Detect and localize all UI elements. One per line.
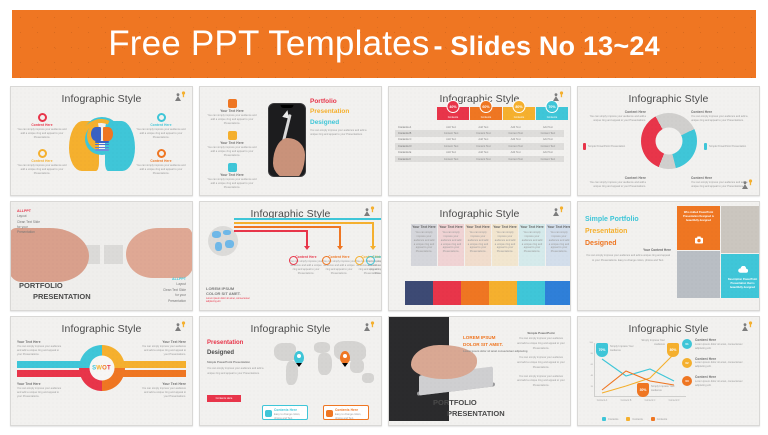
card-sub: Easy to change colors, photos and Text. (274, 413, 305, 421)
cell: Add Text (532, 138, 564, 141)
slide-thumb-6[interactable]: Infographic Style (199, 201, 382, 311)
simple-portfolio-heading: Simple Portfolio Presentation Designed (585, 214, 639, 250)
heading-line-3: Designed (310, 118, 372, 128)
puzzle-column-1[interactable]: Your Text Here You can simply impress yo… (411, 224, 437, 266)
map-card-2[interactable]: Contents Here Easy to change colors, pho… (323, 405, 369, 420)
card-icon-orange (326, 410, 333, 417)
piece-label: Your Text Here (519, 224, 545, 230)
photo-blocks-hand (721, 206, 760, 253)
slide-title: Infographic Style (578, 93, 759, 105)
content-item-2[interactable]: Content Here You can simply impress your… (136, 113, 186, 140)
quadrant-body: You can simply impress your audience and… (140, 387, 186, 399)
body-heading: Your Content Here (585, 248, 671, 252)
piece-body: You can simply impress your audience and… (465, 230, 491, 255)
row-label: Contents A (395, 126, 435, 129)
side-body: Lorem ipsum dolor sit amet, consectetuer… (695, 380, 754, 388)
legend-label: Contents (632, 418, 642, 421)
text-item-body: You can simply impress your audience and… (206, 178, 258, 190)
quadrant-body: You can simply impress your audience and… (17, 387, 63, 399)
content-item-body: You can simply impress your audience and… (17, 164, 67, 176)
left-note: ALLPPT Layout Clean Text Slide for your … (17, 208, 40, 236)
allppt-logo-icon (173, 91, 187, 103)
puzzle-piece-2[interactable] (433, 281, 461, 305)
right-body-3: You can simply impress your audience and… (517, 371, 565, 390)
allppt-logo-icon (551, 91, 565, 103)
cell: Content Text (532, 132, 564, 135)
slide-thumb-3[interactable]: Infographic Style 40% Contents 60% Conte… (388, 86, 571, 196)
legend-item-2[interactable]: Contents (626, 417, 642, 421)
slide-thumb-7[interactable]: Infographic Style Your Text Here You can… (388, 201, 571, 311)
table-header-4[interactable]: 70% Contents (536, 107, 568, 120)
piece-label: Your Text Here (438, 224, 464, 230)
slide-thumb-4[interactable]: Infographic Style Content Here You can s… (577, 86, 760, 196)
cell: Content Text (500, 145, 532, 148)
slide-thumb-5[interactable]: ALLPPT Layout Clean Text Slide for your … (10, 201, 193, 311)
cell: Content Text (435, 158, 467, 161)
x-tick-1: Content A (597, 397, 608, 402)
card-icon-cyan (265, 410, 272, 417)
body-block: Your Content Here You can simply impress… (585, 248, 671, 263)
heading-line-1: Portfolio (310, 97, 372, 107)
map-pin-cyan[interactable] (294, 351, 304, 364)
side-item-1[interactable]: 01 Content Here Lorem ipsum dolor sit am… (682, 339, 754, 351)
slide-thumb-1[interactable]: Infographic Style Content Here You can s… (10, 86, 193, 196)
hand-left-photo (10, 228, 89, 282)
x-tick-4: Content D (669, 397, 680, 402)
cloud-icon (737, 266, 748, 274)
text-item-3[interactable]: Your Text Here You can simply impress yo… (206, 163, 258, 190)
cell: Add Text (532, 126, 564, 129)
banner-text: Free PPT Templates- Slides No 13~24 (108, 24, 660, 64)
cell: Add Text (467, 151, 499, 154)
percent-badge: 80% (513, 100, 526, 113)
table-header-2[interactable]: 60% Contents (470, 107, 502, 120)
chart-badge-cyan[interactable]: 70% (596, 343, 608, 357)
orange-block-text: Who Added PowerPoint Presentation Design… (677, 206, 720, 223)
text-item-2[interactable]: Your Text Here You can simply impress yo… (206, 131, 258, 158)
content-item-body: You can simply impress your audience and… (136, 128, 186, 140)
right-note-l5: Presentation (163, 299, 186, 304)
table-row[interactable]: Contents F Content Text Content Text Con… (395, 156, 564, 162)
phone-mockup (268, 103, 306, 177)
chart-badge-note-3: Simply Impress Your Audience (651, 385, 677, 393)
piece-body: You can simply impress your audience and… (438, 230, 464, 255)
header-label: Contents (470, 116, 502, 119)
cell: Content Text (532, 145, 564, 148)
slide-thumb-2[interactable]: Portfolio Presentation Designed You can … (199, 86, 382, 196)
content-item-body: You can simply impress your audience and… (17, 128, 67, 140)
legend-label: Contents (608, 418, 618, 421)
cell: Add Text (467, 138, 499, 141)
donut-note-3[interactable]: Content Here You can simply impress your… (584, 177, 646, 189)
arrow-column-1[interactable]: Content Here You can simply impress your… (289, 256, 323, 275)
slide-thumb-11[interactable]: LOREM IPSUM DOLOR SIT AMET. Lorem ipsum … (388, 316, 571, 426)
content-item-3[interactable]: Content Here You can simply impress your… (17, 149, 67, 176)
swot-text-1[interactable]: Your Text Here You can simply impress yo… (17, 341, 63, 357)
side-badge: 02 (682, 358, 692, 368)
orange-block[interactable]: Who Added PowerPoint Presentation Design… (677, 206, 720, 250)
slide-title: Infographic Style (200, 323, 381, 335)
slide-thumb-9[interactable]: Infographic Style SWOT Your Text Here Yo (10, 316, 193, 426)
body-text: You can simply impress your audience and… (585, 254, 671, 263)
donut-side-left[interactable]: Simple PowerPoint Presentation (583, 143, 633, 150)
swot-text-3[interactable]: Your Text Here You can simply impress yo… (17, 383, 63, 399)
cell: Content Text (467, 132, 499, 135)
heading-line-2: Presentation (585, 226, 639, 238)
world-map (272, 339, 378, 391)
percent-badge: 60% (480, 100, 493, 113)
portfolio-title: PORTFOLIO PRESENTATION (19, 280, 91, 303)
legend-item-3[interactable]: Contents (651, 417, 667, 421)
text-item-body: You can simply impress your audience and… (206, 146, 258, 158)
contents-button[interactable]: Contents Here (207, 395, 241, 402)
heading-line-1: Simple Portfolio (585, 214, 639, 226)
heading-line-1: Presentation (207, 339, 269, 349)
puzzle-piece-5[interactable] (517, 281, 545, 305)
puzzle-piece-4[interactable] (489, 281, 517, 305)
chart-side-list: 01 Content Here Lorem ipsum dolor sit am… (682, 339, 754, 395)
donut-note-2[interactable]: Content Here You can simply impress your… (691, 111, 753, 123)
right-body: You can simply impress your audience and… (517, 337, 565, 352)
piece-body: You can simply impress your audience and… (519, 230, 545, 255)
cell: Add Text (467, 126, 499, 129)
piece-body: You can simply impress your audience and… (411, 230, 437, 255)
allppt-logo-icon (740, 321, 754, 333)
left-note-l5: Presentation (17, 230, 40, 235)
content-item-4[interactable]: Content Here You can simply impress your… (136, 149, 186, 176)
puzzle-column-3[interactable]: Your Text Here You can simply impress yo… (465, 224, 491, 266)
right-text-block: Simple PowerPoint You can simply impress… (517, 331, 565, 389)
piece-body: You can simply impress your audience and… (546, 230, 571, 255)
banner-subtitle: - Slides No 13~24 (434, 31, 660, 61)
table-header-3[interactable]: 80% Contents (503, 107, 535, 120)
allppt-logo-icon (362, 321, 376, 333)
donut-chart (641, 113, 697, 169)
right-heading: Simple PowerPoint (517, 331, 565, 335)
side-label: Simple PowerPoint Presentation (588, 145, 625, 149)
puzzle-piece-6[interactable] (545, 281, 571, 305)
portfolio-heading: Portfolio Presentation Designed (310, 97, 372, 128)
side-badge: 01 (682, 339, 692, 349)
chart-legend: Contents Contents Contents (602, 417, 667, 421)
banner-title: Free PPT Templates (108, 24, 429, 63)
title-line-1: PORTFOLIO (433, 397, 505, 408)
row-label: Contents F (395, 158, 435, 161)
cell: Add Text (532, 151, 564, 154)
cell: Content Text (532, 158, 564, 161)
heading-line-2: Presentation (310, 107, 372, 117)
piece-label: Your Text Here (465, 224, 491, 230)
slide-title: Infographic Style (389, 208, 570, 220)
x-tick-3: Content C (645, 397, 656, 402)
chart-badge-note-2: Simply Impress Your Audience (641, 339, 665, 347)
note-body: You can simply impress your audience and… (584, 181, 646, 189)
map-card-1[interactable]: Contents Here Easy to change colors, pho… (262, 405, 308, 420)
puzzle-piece-1[interactable] (405, 281, 433, 305)
swot-center-label: SWOT (89, 356, 114, 381)
heading-line-2: Designed (207, 349, 269, 359)
side-body: Lorem ipsum dolor sit amet, consectetuer… (695, 343, 754, 351)
allppt-logo-icon (362, 206, 376, 218)
slide-thumb-12[interactable]: Infographic Style 100 80 60 40 20 (577, 316, 760, 426)
head-brain-graphic (67, 117, 137, 173)
note-body: You can simply impress your audience and… (691, 115, 753, 123)
donut-note-1[interactable]: Content Here You can simply impress your… (584, 111, 646, 123)
cell: Add Text (435, 126, 467, 129)
side-body: Lorem ipsum dolor sit amet, consectetuer… (695, 361, 754, 369)
note-body: You can simply impress your audience and… (584, 115, 646, 123)
cell: Content Text (467, 145, 499, 148)
quadrant-body: You can simply impress your audience and… (17, 345, 63, 357)
button-label: Contents Here (207, 395, 241, 402)
allppt-logo-icon (740, 179, 754, 191)
table-column-headers: 40% Contents 60% Contents 80% Contents 7… (437, 107, 568, 120)
header-label: Contents (437, 116, 469, 119)
card-sub: Easy to change colors, photos and Text. (335, 413, 366, 421)
puzzle-column-4[interactable]: Your Text Here You can simply impress yo… (492, 224, 518, 266)
cell: Add Text (500, 138, 532, 141)
swot-ring: SWOT (79, 345, 125, 391)
header-banner: Free PPT Templates- Slides No 13~24 (12, 10, 756, 78)
slide-title: Infographic Style (11, 93, 192, 105)
piece-body: You can simply impress your audience and… (492, 230, 518, 255)
swot-text-2[interactable]: Your Text Here You can simply impress yo… (140, 341, 186, 357)
quadrant-body: You can simply impress your audience and… (140, 345, 186, 357)
portfolio-body: You can simply impress your audience and… (310, 129, 372, 138)
title-line-1: PORTFOLIO (19, 280, 91, 291)
piece-label: Your Text Here (546, 224, 571, 230)
cell: Content Text (435, 132, 467, 135)
cell: Content Text (500, 132, 532, 135)
percent-badge: 40% (447, 100, 460, 113)
puzzle-column-2[interactable]: Your Text Here You can simply impress yo… (438, 224, 464, 266)
content-item-1[interactable]: Content Here You can simply impress your… (17, 113, 67, 140)
caption-sub: Lorem ipsum dolor sit amet, consectetuer… (206, 297, 254, 304)
arrow-column-2[interactable]: Content Here You can simply impress your… (322, 256, 356, 275)
map-pin-orange[interactable] (340, 351, 350, 364)
piece-label: Your Text Here (411, 224, 437, 230)
text-item-body: You can simply impress your audience and… (206, 114, 258, 126)
cell: Content Text (467, 158, 499, 161)
swot-text-4[interactable]: Your Text Here You can simply impress yo… (140, 383, 186, 399)
arrow-column-4[interactable]: Content Here You can simply impress your… (366, 256, 382, 275)
right-note: ALLPPT Layout Clean Text Slide for your … (163, 276, 186, 304)
photo-blocks-tools (677, 251, 720, 298)
x-tick-2: Content B (621, 397, 632, 402)
page-root: Free PPT Templates- Slides No 13~24 Info… (0, 0, 768, 435)
text-item-1[interactable]: Your Text Here You can simply impress yo… (206, 99, 258, 126)
slide-thumbnail-grid: Infographic Style Content Here You can s… (10, 86, 760, 426)
cell: Add Text (435, 151, 467, 154)
slide-title: Infographic Style (11, 323, 192, 335)
side-label: Simple PowerPoint Presentation (709, 145, 746, 149)
row-label: Contents D (395, 145, 435, 148)
header-label: Contents (536, 116, 568, 119)
hand-right-photo (126, 228, 193, 278)
cell: Add Text (500, 151, 532, 154)
chart-badge-note-1: Simply Impress Your Audience (610, 345, 634, 353)
allppt-logo-icon (551, 206, 565, 218)
donut-side-right[interactable]: Simple PowerPoint Presentation (704, 143, 754, 150)
cell: Add Text (500, 126, 532, 129)
portfolio-title: PORTFOLIO PRESENTATION (433, 397, 505, 420)
slide-thumb-8[interactable]: Who Added PowerPoint Presentation Design… (577, 201, 760, 311)
row-label: Contents E (395, 151, 435, 154)
cell: Add Text (435, 138, 467, 141)
legend-label: Contents (657, 418, 667, 421)
cell: Content Text (500, 158, 532, 161)
chart-badge-yellow[interactable]: 80% (667, 343, 679, 357)
side-item-3[interactable]: 03 Content Here Lorem ipsum dolor sit am… (682, 376, 754, 388)
header-label: Contents (503, 116, 535, 119)
row-label: Contents B (395, 132, 435, 135)
right-body-2: You can simply impress your audience and… (517, 352, 565, 371)
side-badge: 03 (682, 376, 692, 386)
lorem-caption: LOREM IPSUM COLOR SIT AMET. Lorem ipsum … (206, 286, 254, 304)
allppt-logo-icon (173, 321, 187, 333)
slide-thumb-10[interactable]: Infographic Style (199, 316, 382, 426)
title-line-2: PRESENTATION (19, 291, 91, 302)
table-header-1[interactable]: 40% Contents (437, 107, 469, 120)
chart-badge-orange[interactable]: 30% (637, 383, 649, 397)
cyan-block[interactable]: Description PowerPoint Presentation that… (721, 254, 760, 298)
camera-icon (694, 236, 703, 244)
content-item-body: You can simply impress your audience and… (136, 164, 186, 176)
heading-body: You can simply impress your audience and… (207, 364, 269, 376)
puzzle-column-6[interactable]: Your Text Here You can simply impress yo… (546, 224, 571, 266)
puzzle-piece-3[interactable] (461, 281, 489, 305)
presentation-heading: Presentation Designed Simple PowerPoint … (207, 339, 269, 377)
table-body: Contents A Add Text Add Text Add Text Ad… (395, 124, 564, 162)
legend-item-1[interactable]: Contents (602, 417, 618, 421)
cell: Content Text (435, 145, 467, 148)
piece-label: Your Text Here (492, 224, 518, 230)
row-label: Contents C (395, 138, 435, 141)
puzzle-column-5[interactable]: Your Text Here You can simply impress yo… (519, 224, 545, 266)
side-item-2[interactable]: 02 Content Here Lorem ipsum dolor sit am… (682, 358, 754, 370)
swot-letter-t: T (107, 365, 111, 371)
title-line-2: PRESENTATION (433, 408, 505, 419)
slide-title: Infographic Style (578, 323, 759, 335)
